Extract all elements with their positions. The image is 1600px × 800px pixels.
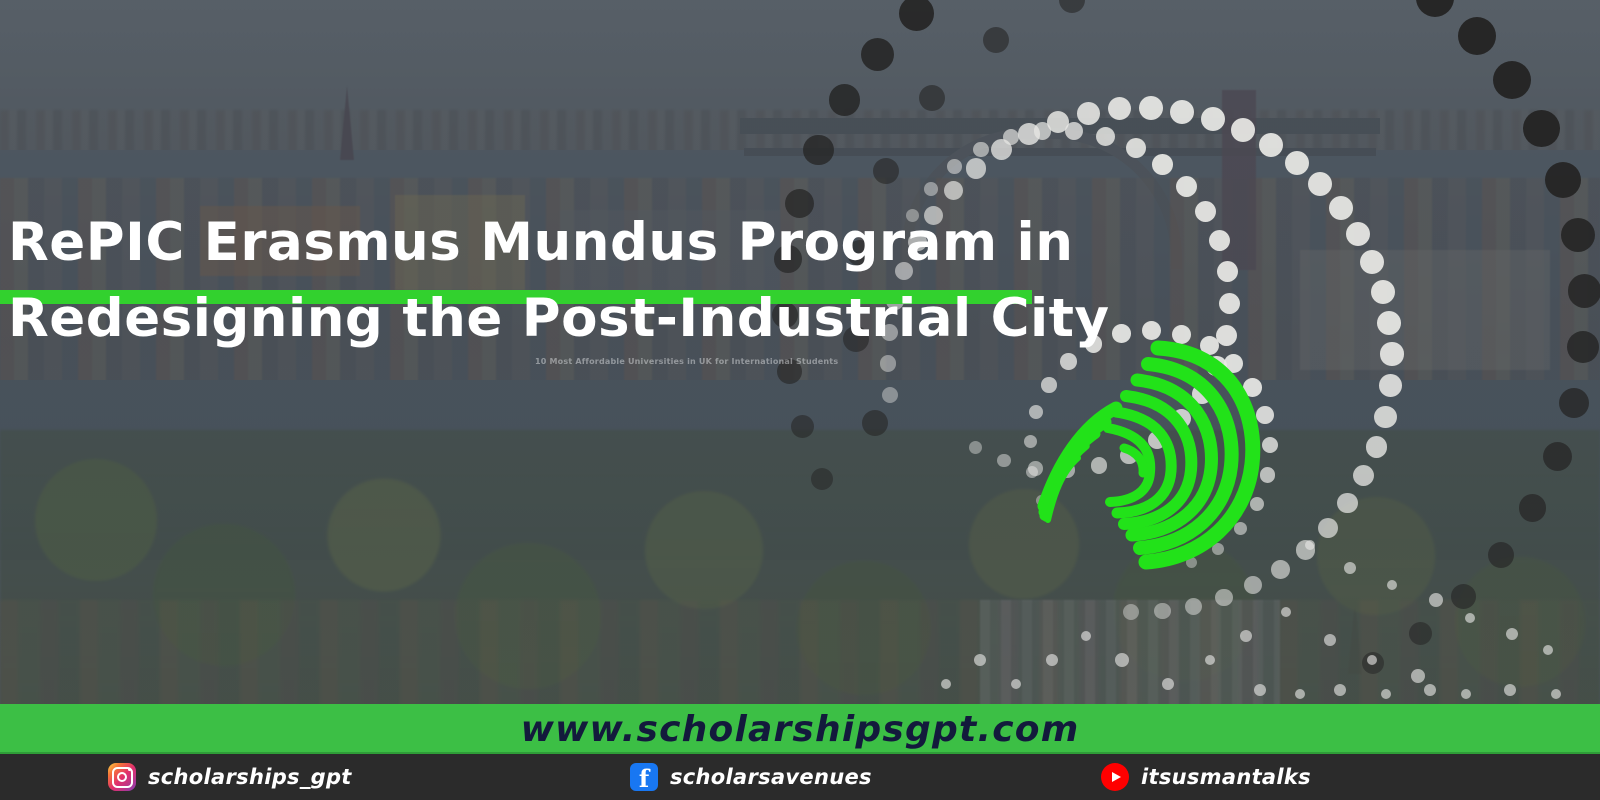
decorative-dot (873, 158, 899, 184)
social-footer-bar: scholarships_gpt f scholarsavenues itsus… (0, 754, 1600, 800)
decorative-dot (1231, 118, 1255, 142)
decorative-dot (941, 679, 951, 689)
decorative-dot (1209, 230, 1230, 251)
decorative-dot (1411, 669, 1425, 683)
decorative-dot (1201, 107, 1225, 131)
decorative-dot (1046, 654, 1058, 666)
decorative-dot (861, 38, 894, 71)
decorative-dot (1139, 96, 1163, 120)
instagram-icon (108, 763, 136, 791)
decorative-dot (1366, 436, 1388, 458)
decorative-dot (1523, 110, 1561, 148)
decorative-dot (974, 654, 986, 666)
decorative-dot (1424, 684, 1436, 696)
facebook-handle: scholarsavenues (670, 765, 872, 789)
decorative-dot (1081, 631, 1091, 641)
decorative-dot (1096, 127, 1115, 146)
decorative-dot (1318, 518, 1338, 538)
social-item-youtube[interactable]: itsusmantalks (1101, 754, 1311, 800)
decorative-dot (1077, 102, 1100, 125)
decorative-dot (880, 355, 897, 372)
decorative-dot (1374, 406, 1396, 428)
decorative-dot (1551, 689, 1561, 699)
decorative-dot (1259, 133, 1283, 157)
decorative-dot (1377, 311, 1401, 335)
decorative-dot (1504, 684, 1516, 696)
decorative-dot (919, 85, 945, 111)
decorative-dot (1543, 442, 1572, 471)
decorative-dot (1011, 679, 1021, 689)
decorative-dot (1305, 540, 1315, 550)
decorative-dot (862, 410, 888, 436)
decorative-dot (1170, 100, 1194, 124)
decorative-dot (1465, 613, 1475, 623)
decorative-dot (1254, 684, 1266, 696)
decorative-dot (1409, 622, 1432, 645)
watermark-text: 10 Most Affordable Universities in UK fo… (535, 357, 838, 366)
facebook-icon: f (630, 763, 658, 791)
decorative-dot (1281, 607, 1291, 617)
decorative-dot (973, 142, 989, 158)
decorative-dot (1152, 154, 1173, 175)
decorative-dot (1329, 196, 1353, 220)
page-title: RePIC Erasmus Mundus Program in Redesign… (8, 205, 1188, 357)
decorative-dot (1205, 655, 1215, 665)
youtube-handle: itsusmantalks (1141, 765, 1311, 789)
social-item-facebook[interactable]: f scholarsavenues (630, 754, 872, 800)
decorative-dot (947, 159, 962, 174)
decorative-dot (983, 27, 1009, 53)
decorative-dot (1334, 684, 1346, 696)
decorative-dot (803, 135, 833, 165)
photo-gradient-overlay (0, 0, 1600, 800)
website-url-text[interactable]: www.scholarshipsgpt.com (521, 709, 1080, 750)
decorative-dot (1034, 122, 1051, 139)
website-url-bar: www.scholarshipsgpt.com (0, 704, 1600, 754)
decorative-dot (1271, 560, 1290, 579)
instagram-handle: scholarships_gpt (148, 765, 352, 789)
decorative-dot (1337, 493, 1357, 513)
decorative-dot (1380, 342, 1403, 365)
decorative-dot (1065, 122, 1083, 140)
decorative-dot (1285, 151, 1309, 175)
decorative-dot (1126, 138, 1146, 158)
decorative-dot (1381, 689, 1391, 699)
decorative-dot (1461, 689, 1471, 699)
decorative-dot (1115, 653, 1129, 667)
decorative-dot (1123, 604, 1139, 620)
decorative-dot (1346, 222, 1370, 246)
decorative-dot (1344, 562, 1356, 574)
decorative-dot (1295, 689, 1305, 699)
decorative-dot (1506, 628, 1518, 640)
decorative-dot (1519, 494, 1547, 522)
decorative-dot (1176, 176, 1197, 197)
decorative-dot (1387, 580, 1397, 590)
decorative-dot (1458, 17, 1496, 55)
youtube-icon (1101, 763, 1129, 791)
fingerprint-swoosh-logo (1020, 330, 1270, 580)
decorative-dot (1371, 280, 1395, 304)
promo-banner: RePIC Erasmus Mundus Program in Redesign… (0, 0, 1600, 800)
decorative-dot (1367, 655, 1377, 665)
decorative-dot (966, 158, 986, 178)
decorative-dot (1568, 274, 1600, 307)
decorative-dot (1324, 634, 1336, 646)
decorative-dot (969, 441, 982, 454)
decorative-dot (1308, 172, 1332, 196)
decorative-dot (1154, 603, 1171, 620)
social-item-instagram[interactable]: scholarships_gpt (108, 754, 352, 800)
decorative-dot (1240, 630, 1252, 642)
decorative-dot (924, 182, 938, 196)
decorative-dot (791, 415, 814, 438)
decorative-dot (1162, 678, 1174, 690)
decorative-dot (1543, 645, 1553, 655)
decorative-dot (1429, 593, 1443, 607)
decorative-dot (1379, 374, 1402, 397)
